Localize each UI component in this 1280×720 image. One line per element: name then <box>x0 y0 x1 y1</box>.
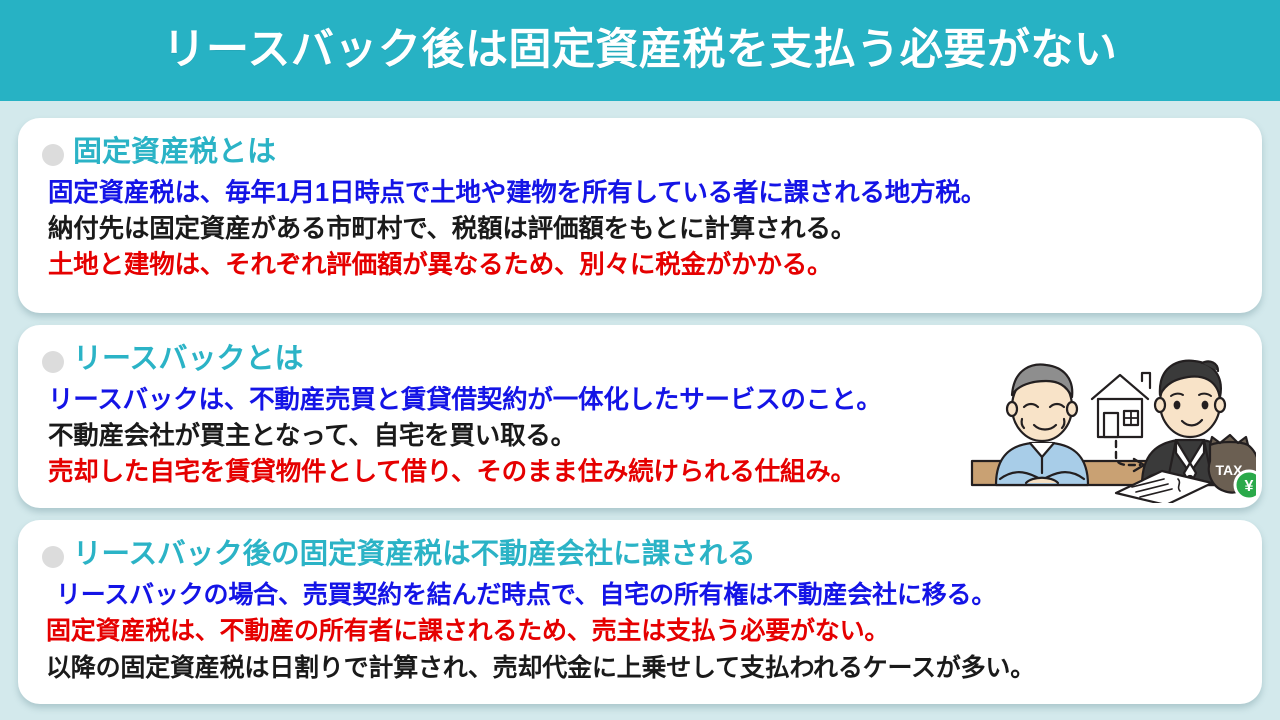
card-1-heading: 固定資産税とは <box>73 137 276 169</box>
card-1-line-2: 納付先は固定資産がある市町村で、税額は評価額をもとに計算される。 <box>48 211 1240 247</box>
info-card-2: リースバックとは リースバックは、不動産売買と賃貸借契約が一体化したサービスのこ… <box>18 325 1262 508</box>
tax-money-bag: TAX ¥ <box>1209 435 1256 499</box>
card-1-line-1: 固定資産税は、毎年1月1日時点で土地や建物を所有している者に課される地方税。 <box>48 175 1240 211</box>
card-3-line-1: リースバックの場合、売買契約を結んだ時点で、自宅の所有権は不動産会社に移る。 <box>46 577 1240 613</box>
page-title: リースバック後は固定資産税を支払う必要がない <box>163 29 1118 72</box>
card-1-line-3: 土地と建物は、それぞれ評価額が異なるため、別々に税金がかかる。 <box>48 247 1240 283</box>
info-card-1: 固定資産税とは 固定資産税は、毎年1月1日時点で土地や建物を所有している者に課さ… <box>18 118 1262 313</box>
bullet-dot-icon <box>42 351 64 373</box>
card-3-heading: リースバック後の固定資産税は不動産会社に課される <box>73 539 756 570</box>
infographic-page: リースバック後は固定資産税を支払う必要がない 固定資産税とは 固定資産税は、毎年… <box>0 0 1280 720</box>
header-bar: リースバック後は固定資産税を支払う必要がない <box>0 0 1280 101</box>
leaseback-handover-illustration: TAX ¥ <box>966 333 1256 503</box>
house-icon <box>1092 373 1150 437</box>
yen-symbol-icon: ¥ <box>1245 478 1254 495</box>
card-3-line-2: 固定資産税は、不動産の所有者に課されるため、売主は支払う必要がない。 <box>46 613 1240 649</box>
card-2-heading: リースバックとは <box>73 344 304 376</box>
elderly-seller-person <box>996 365 1088 485</box>
card-2-content: リースバックとは リースバックは、不動産売買と賃貸借契約が一体化したサービスのこ… <box>18 325 1262 508</box>
card-1-heading-row: 固定資産税とは <box>42 132 1240 174</box>
card-3-content: リースバック後の固定資産税は不動産会社に課される リースバックの場合、売買契約を… <box>18 520 1262 704</box>
card-3-heading-row: リースバック後の固定資産税は不動産会社に課される <box>42 534 1240 576</box>
card-1-lines: 固定資産税は、毎年1月1日時点で土地や建物を所有している者に課される地方税。 納… <box>42 175 1240 284</box>
card-1-content: 固定資産税とは 固定資産税は、毎年1月1日時点で土地や建物を所有している者に課さ… <box>18 118 1262 313</box>
card-3-line-3: 以降の固定資産税は日割りで計算され、売却代金に上乗せして支払われるケースが多い。 <box>46 650 1240 686</box>
card-3-lines: リースバックの場合、売買契約を結んだ時点で、自宅の所有権は不動産会社に移る。 固… <box>42 577 1240 686</box>
bullet-dot-icon <box>42 546 64 568</box>
bullet-dot-icon <box>42 144 64 166</box>
info-card-3: リースバック後の固定資産税は不動産会社に課される リースバックの場合、売買契約を… <box>18 520 1262 704</box>
